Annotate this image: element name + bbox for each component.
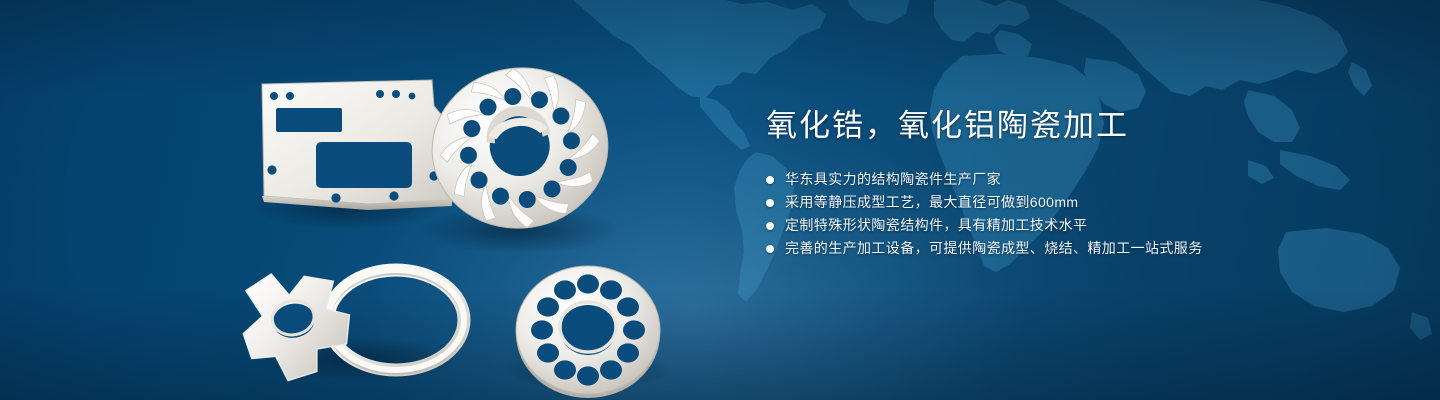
- ceramic-hole-disc-part: [516, 266, 660, 398]
- bullet-dot-icon: [766, 176, 774, 184]
- feature-text: 定制特殊形状陶瓷结构件，具有精加工技术水平: [785, 214, 1087, 237]
- ceramic-plate-part: [262, 80, 454, 210]
- feature-text: 完善的生产加工设备，可提供陶瓷成型、烧结、精加工一站式服务: [785, 237, 1203, 260]
- feature-text: 采用等静压成型工艺，最大直径可做到600mm: [785, 191, 1078, 214]
- banner-copy-block: 氧化锆，氧化铝陶瓷加工 华东具实力的结构陶瓷件生产厂家 采用等静压成型工艺，最大…: [766, 106, 1366, 260]
- feature-text: 华东具实力的结构陶瓷件生产厂家: [785, 168, 1001, 191]
- ceramic-impeller-part: [422, 57, 619, 240]
- ceramic-products-image-group: [228, 30, 728, 380]
- list-item: 定制特殊形状陶瓷结构件，具有精加工技术水平: [766, 214, 1366, 237]
- ceramic-processing-banner: 氧化锆，氧化铝陶瓷加工 华东具实力的结构陶瓷件生产厂家 采用等静压成型工艺，最大…: [0, 0, 1440, 400]
- list-item: 完善的生产加工设备，可提供陶瓷成型、烧结、精加工一站式服务: [766, 237, 1366, 260]
- bullet-dot-icon: [766, 245, 774, 253]
- list-item: 采用等静压成型工艺，最大直径可做到600mm: [766, 191, 1366, 214]
- bullet-dot-icon: [766, 199, 774, 207]
- bullet-dot-icon: [766, 222, 774, 230]
- feature-list: 华东具实力的结构陶瓷件生产厂家 采用等静压成型工艺，最大直径可做到600mm 定…: [766, 168, 1366, 260]
- list-item: 华东具实力的结构陶瓷件生产厂家: [766, 168, 1366, 191]
- page-title: 氧化锆，氧化铝陶瓷加工: [766, 106, 1366, 146]
